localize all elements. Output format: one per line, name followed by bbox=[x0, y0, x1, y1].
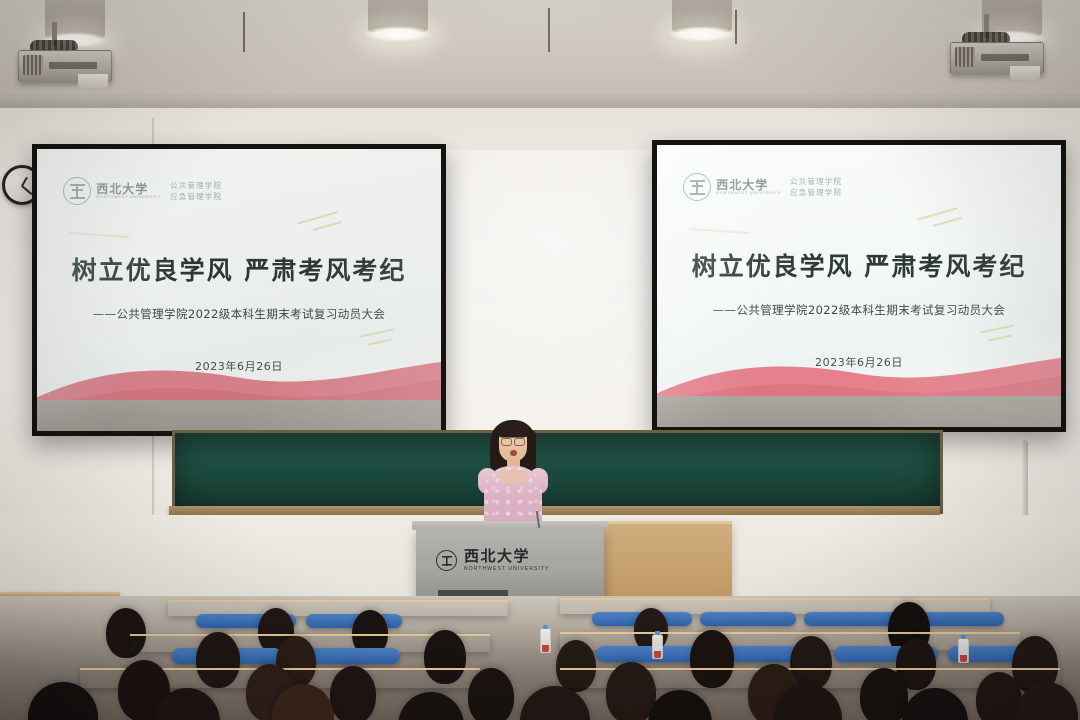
chair-row bbox=[596, 646, 704, 662]
podium-emblem: 西北大学 NORTHWEST UNIVERSITY bbox=[436, 549, 549, 572]
podium: 西北大学 NORTHWEST UNIVERSITY bbox=[416, 527, 604, 605]
university-seal-icon bbox=[436, 550, 457, 571]
logo-department-line-2: 应急管理学院 bbox=[170, 192, 222, 201]
ceiling-cable bbox=[735, 10, 737, 44]
blackboard bbox=[172, 430, 943, 514]
ceiling-cable bbox=[548, 8, 550, 52]
university-seal-icon bbox=[63, 177, 91, 205]
logo-department-line-1: 公共管理学院 bbox=[170, 181, 222, 190]
podium-university-name-en: NORTHWEST UNIVERSITY bbox=[464, 566, 549, 572]
logo-department-line-2: 应急管理学院 bbox=[790, 188, 842, 197]
water-bottle bbox=[652, 634, 663, 659]
lecture-hall-photo: 西北大学 NORTHWEST UNIVERSITY 公共管理学院 应急管理学院 … bbox=[0, 0, 1080, 720]
slide-base-bar bbox=[37, 400, 441, 431]
side-desk-right bbox=[604, 521, 732, 608]
logo-university-name-en: NORTHWEST UNIVERSITY bbox=[96, 195, 161, 199]
audience-head bbox=[330, 666, 376, 720]
slide-left: 西北大学 NORTHWEST UNIVERSITY 公共管理学院 应急管理学院 … bbox=[37, 149, 441, 431]
chair-row bbox=[804, 612, 900, 626]
water-bottle bbox=[958, 638, 969, 663]
logo-department-line-1: 公共管理学院 bbox=[790, 177, 842, 186]
projection-screen-right: 西北大学 NORTHWEST UNIVERSITY 公共管理学院 应急管理学院 … bbox=[652, 140, 1066, 432]
slide-base-bar bbox=[657, 396, 1061, 427]
ceiling-beam bbox=[0, 96, 1080, 108]
audience-area bbox=[0, 596, 1080, 720]
slide-logo-left: 西北大学 NORTHWEST UNIVERSITY 公共管理学院 应急管理学院 bbox=[63, 177, 222, 205]
projection-screen-left: 西北大学 NORTHWEST UNIVERSITY 公共管理学院 应急管理学院 … bbox=[32, 144, 446, 436]
ceiling-cable bbox=[243, 12, 245, 52]
slide-logo-right: 西北大学 NORTHWEST UNIVERSITY 公共管理学院 应急管理学院 bbox=[683, 173, 842, 201]
podium-university-name: 西北大学 bbox=[464, 549, 549, 564]
audience-head bbox=[468, 668, 514, 720]
slide-subtitle-right: ——公共管理学院2022级本科生期末考试复习动员大会 bbox=[657, 302, 1061, 318]
audience-head bbox=[606, 662, 656, 720]
chair-row bbox=[700, 612, 796, 626]
slide-title-left: 树立优良学风 严肃考风考纪 bbox=[37, 251, 441, 287]
slide-title-right: 树立优良学风 严肃考风考纪 bbox=[657, 247, 1061, 283]
university-seal-icon bbox=[683, 173, 711, 201]
slide-subtitle-left: ——公共管理学院2022级本科生期末考试复习动员大会 bbox=[37, 306, 441, 322]
slide-right: 西北大学 NORTHWEST UNIVERSITY 公共管理学院 应急管理学院 … bbox=[657, 145, 1061, 427]
audience-head bbox=[860, 668, 908, 720]
glasses-icon bbox=[501, 437, 525, 444]
water-bottle bbox=[540, 628, 551, 653]
chalk-ledge bbox=[169, 506, 940, 515]
logo-university-name-en: NORTHWEST UNIVERSITY bbox=[716, 191, 781, 195]
